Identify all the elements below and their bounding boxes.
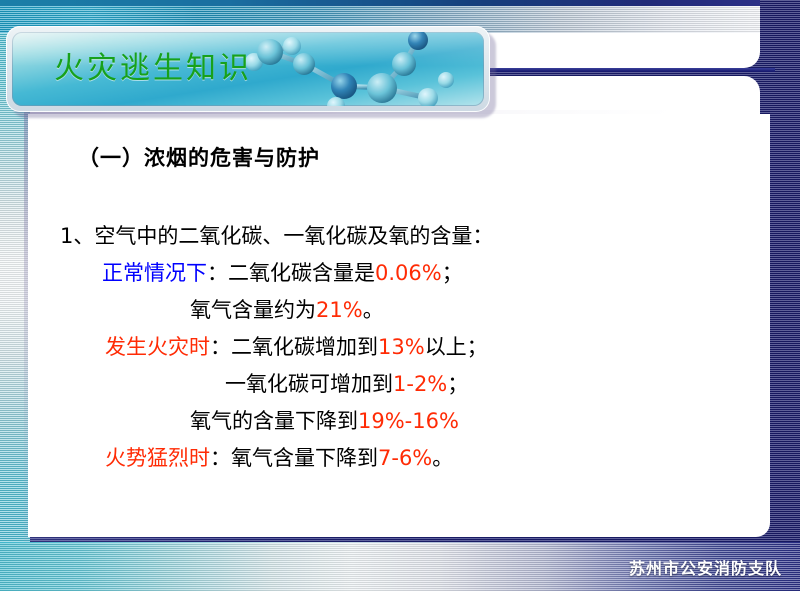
section-heading: （一）浓烟的危害与防护 — [78, 142, 700, 172]
content-text-segment: ：二氧化碳增加到 — [210, 335, 378, 359]
content-text-segment: 13% — [378, 335, 425, 359]
content-text-segment: ：氧气含量下降到 — [210, 446, 378, 470]
slide-body: （一）浓烟的危害与防护 1、空气中的二氧化碳、一氧化碳及氧的含量：正常情况下：二… — [60, 142, 700, 477]
content-line: 正常情况下：二氧化碳含量是0.06%； — [102, 255, 700, 292]
content-line: 1、空气中的二氧化碳、一氧化碳及氧的含量： — [60, 218, 700, 255]
content-text-segment: 正常情况下 — [102, 261, 207, 285]
content-line: 氧气含量约为21%。 — [190, 292, 700, 329]
banner-divider-rule — [470, 68, 775, 72]
slide-title: 火灾逃生知识 — [54, 48, 252, 90]
content-line: 发生火灾时：二氧化碳增加到13%以上； — [105, 329, 700, 366]
title-banner-body: 火灾逃生知识 — [12, 32, 484, 106]
molecule-model-icon — [232, 32, 482, 106]
title-banner: 火灾逃生知识 — [6, 26, 496, 116]
content-text-segment: ：二氧化碳含量是 — [207, 261, 375, 285]
content-text-segment: 0.06% — [375, 261, 442, 285]
content-text-segment: 21% — [316, 298, 363, 322]
content-text-segment: 一氧化碳可增加到 — [225, 372, 393, 396]
content-text-segment: 火势猛烈时 — [105, 446, 210, 470]
content-text-segment: ； — [442, 261, 463, 285]
content-line-list: 1、空气中的二氧化碳、一氧化碳及氧的含量：正常情况下：二氧化碳含量是0.06%；… — [60, 218, 700, 477]
content-line: 一氧化碳可增加到1-2%； — [225, 366, 700, 403]
content-text-segment: 氧气的含量下降到 — [190, 409, 358, 433]
content-text-segment: 1-2% — [393, 372, 447, 396]
content-text-segment: 1、空气中的二氧化碳、一氧化碳及氧的含量： — [60, 224, 493, 248]
content-text-segment: 氧气含量约为 — [190, 298, 316, 322]
footer-bar: 苏州市公安消防支队 — [0, 543, 800, 591]
top-stripe-dark-edge — [0, 0, 760, 6]
content-text-segment: 。 — [363, 298, 384, 322]
content-text-segment: 19%-16% — [358, 409, 459, 433]
content-text-segment: 发生火灾时 — [105, 335, 210, 359]
content-text-segment: 7-6% — [378, 446, 432, 470]
content-line: 氧气的含量下降到19%-16% — [190, 403, 700, 440]
content-text-segment: 。 — [432, 446, 453, 470]
content-line: 火势猛烈时：氧气含量下降到7-6%。 — [105, 440, 700, 477]
content-text-segment: 以上； — [425, 335, 488, 359]
content-text-segment: ； — [447, 372, 468, 396]
presentation-slide: 火灾逃生知识 （一）浓烟的危害与防护 1、空气中的二氧化碳、一氧化碳及氧的含量：… — [0, 0, 800, 591]
footer-organization-label: 苏州市公安消防支队 — [629, 555, 782, 579]
title-banner-frame: 火灾逃生知识 — [6, 26, 490, 112]
